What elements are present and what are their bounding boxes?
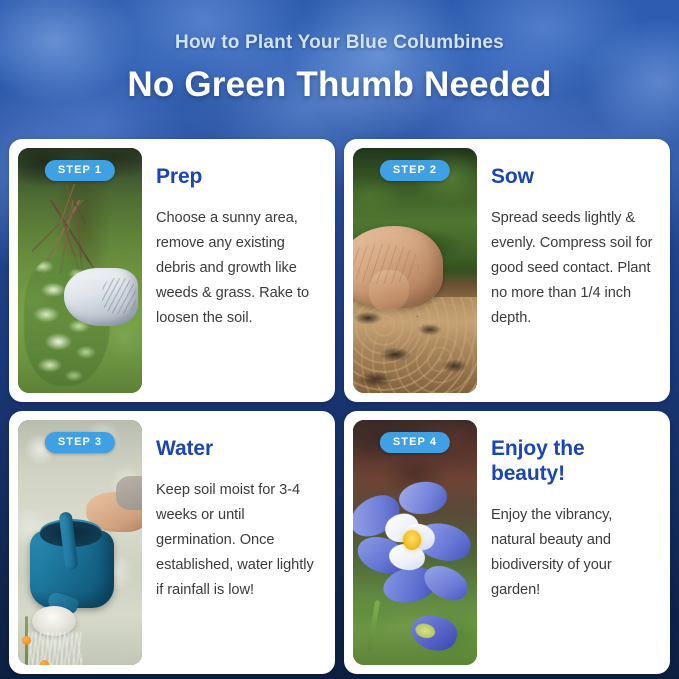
water-spray-art (28, 632, 82, 665)
orange-flower-art (22, 636, 31, 645)
white-glove-art (64, 268, 138, 326)
hand-sowing-seeds-on-soil-photo: STEP 2 (353, 148, 477, 393)
step-text-1: Choose a sunny area, remove any existing… (156, 206, 318, 331)
flower-center-art (403, 530, 421, 550)
flower-petal-art (397, 479, 449, 517)
step-badge-2: STEP 2 (380, 160, 450, 181)
step-body-2: Sow Spread seeds lightly & evenly. Compr… (491, 148, 661, 393)
flower-stem-art (367, 600, 381, 650)
step-text-3: Keep soil moist for 3-4 weeks or until g… (156, 478, 318, 603)
orange-flower-art (40, 660, 49, 665)
falling-seeds-art (409, 294, 431, 328)
blue-watering-can-photo: STEP 3 (18, 420, 142, 665)
blue-columbine-flower-photo: STEP 4 (353, 420, 477, 665)
step-card-sow[interactable]: STEP 2 Sow Spread seeds lightly & evenly… (344, 139, 670, 402)
step-body-3: Water Keep soil moist for 3-4 weeks or u… (156, 420, 326, 665)
step-badge-3: STEP 3 (45, 432, 115, 453)
columbine-scene-art (353, 420, 477, 665)
header: How to Plant Your Blue Columbines No Gre… (0, 0, 679, 138)
step-body-1: Prep Choose a sunny area, remove any exi… (156, 148, 326, 393)
step-body-4: Enjoy the beauty! Enjoy the vibrancy, na… (491, 420, 661, 665)
step-card-prep[interactable]: STEP 1 Prep Choose a sunny area, remove … (9, 139, 335, 402)
step-title-4: Enjoy the beauty! (491, 436, 653, 486)
infographic-page: How to Plant Your Blue Columbines No Gre… (0, 0, 679, 679)
flower-bud-art (408, 611, 461, 655)
sowing-scene-art (353, 148, 477, 393)
step-card-water[interactable]: STEP 3 Water Keep soil moist for 3-4 wee… (9, 411, 335, 674)
header-title: No Green Thumb Needed (0, 62, 679, 108)
step-badge-4: STEP 4 (380, 432, 450, 453)
flower-petal-art (419, 559, 473, 606)
weeds-scene-art (18, 148, 142, 393)
step-title-2: Sow (491, 164, 653, 189)
gloved-hand-holding-weeds-photo: STEP 1 (18, 148, 142, 393)
header-subtitle: How to Plant Your Blue Columbines (0, 30, 679, 56)
step-title-3: Water (156, 436, 318, 461)
step-card-enjoy[interactable]: STEP 4 Enjoy the beauty! Enjoy the vibra… (344, 411, 670, 674)
step-badge-1: STEP 1 (45, 160, 115, 181)
step-text-2: Spread seeds lightly & evenly. Compress … (491, 206, 653, 331)
watering-scene-art (18, 420, 142, 665)
step-title-1: Prep (156, 164, 318, 189)
step-text-4: Enjoy the vibrancy, natural beauty and b… (491, 503, 653, 603)
steps-grid: STEP 1 Prep Choose a sunny area, remove … (9, 139, 670, 674)
